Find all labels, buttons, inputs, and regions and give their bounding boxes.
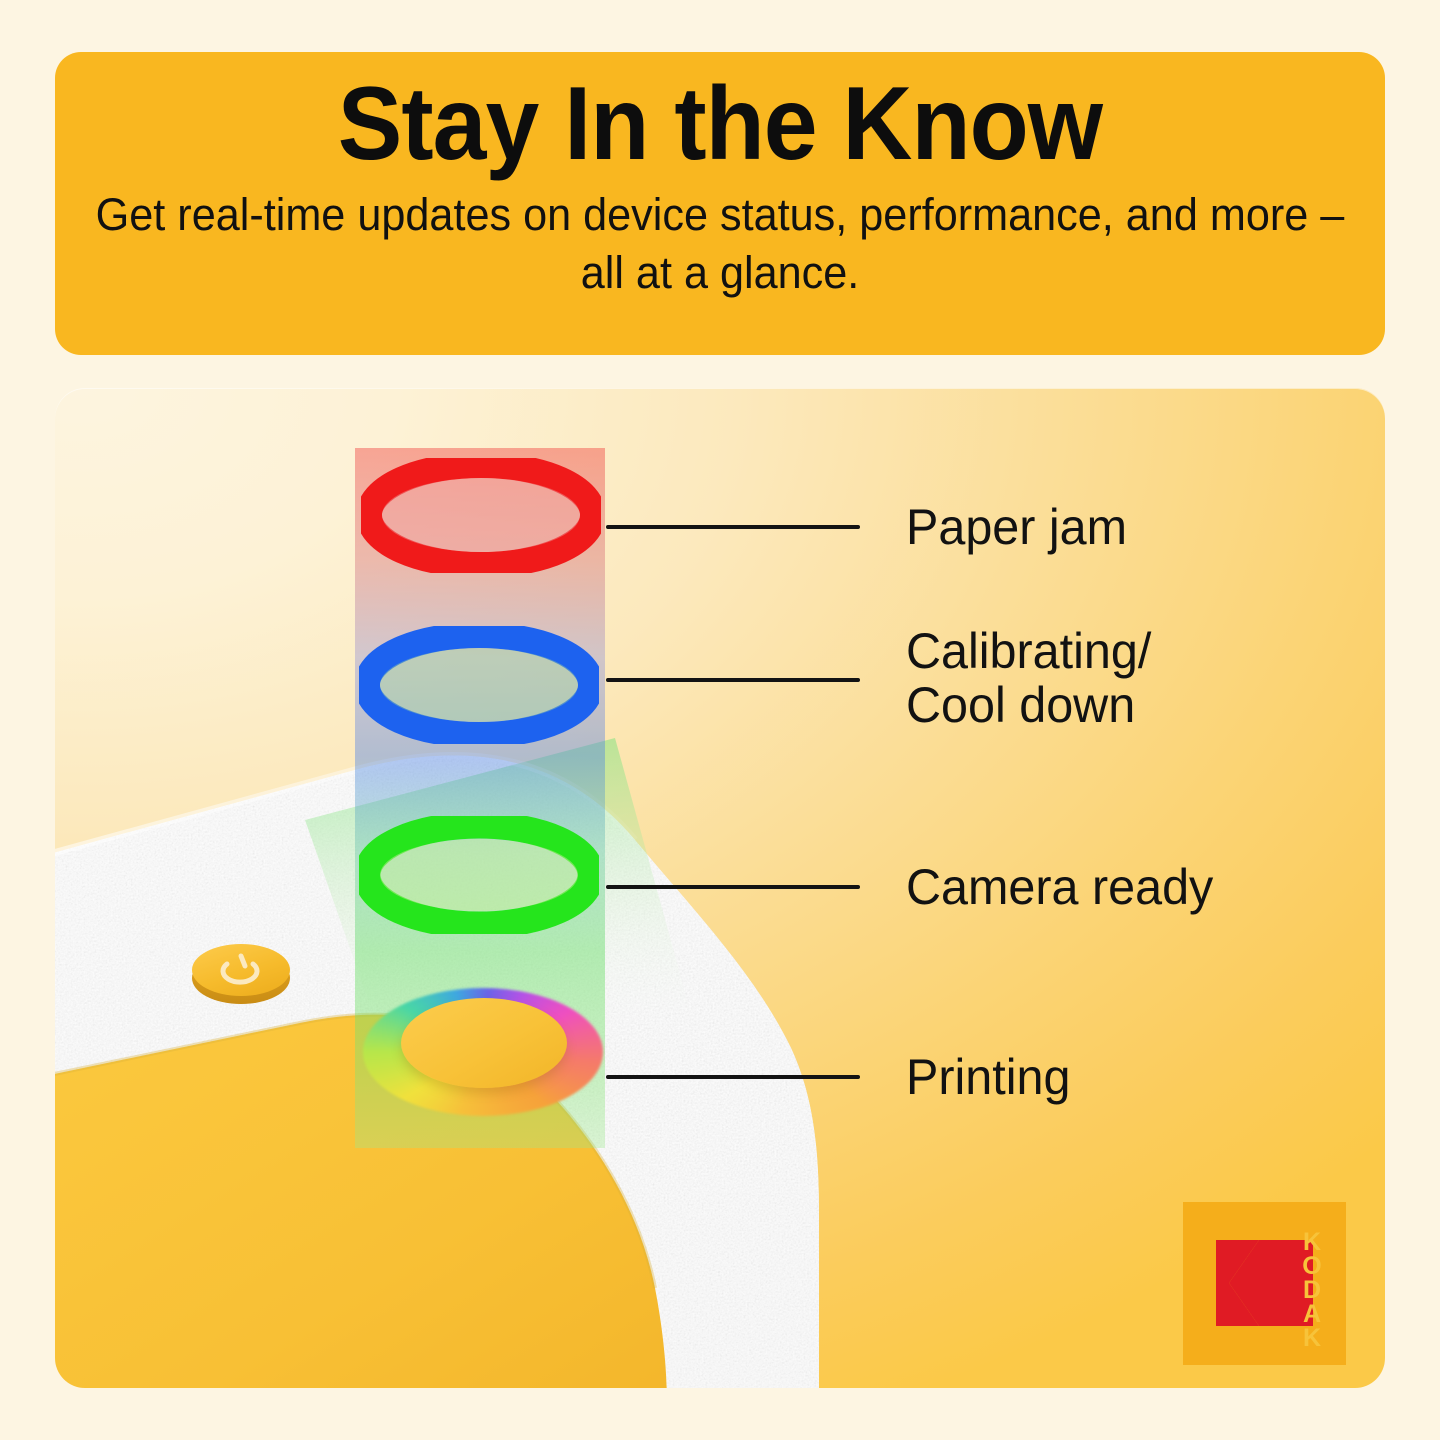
callout-label-camera-ready: Camera ready — [906, 860, 1213, 914]
leader-line-printing — [606, 1075, 860, 1079]
led-ring-blue — [359, 626, 599, 744]
leader-line-camera-ready — [606, 885, 860, 889]
print-button-face — [401, 998, 567, 1088]
print-button[interactable] — [363, 988, 603, 1116]
page-subtitle: Get real-time updates on device status, … — [82, 186, 1359, 301]
callout-paper-jam: Paper jam — [606, 500, 1134, 554]
kodak-letter-k1: K — [1303, 1230, 1321, 1254]
kodak-letter-a: A — [1303, 1302, 1321, 1326]
page-title: Stay In the Know — [338, 66, 1102, 182]
header-banner: Stay In the Know Get real-time updates o… — [55, 52, 1385, 355]
led-ring-green — [359, 816, 599, 934]
callout-printing: Printing — [606, 1050, 1076, 1104]
callout-label-printing: Printing — [906, 1050, 1070, 1104]
callout-calibrating-cool-down: Calibrating/ Cool down — [606, 628, 1159, 732]
kodak-letter-o: O — [1302, 1254, 1321, 1278]
callout-label-calibrating: Calibrating/ Cool down — [906, 624, 1151, 732]
callout-camera-ready: Camera ready — [606, 860, 1223, 914]
leader-line-calibrating — [606, 678, 860, 682]
kodak-letter-d: D — [1303, 1278, 1321, 1302]
led-ring-red — [361, 458, 601, 573]
product-illustration-panel: Paper jam Calibrating/ Cool down Camera … — [55, 388, 1385, 1388]
leader-line-paper-jam — [606, 525, 860, 529]
kodak-wordmark: K O D A K — [1297, 1230, 1327, 1350]
infographic-root: Stay In the Know Get real-time updates o… — [0, 0, 1440, 1440]
kodak-letter-k2: K — [1303, 1326, 1321, 1350]
callout-label-paper-jam: Paper jam — [906, 500, 1127, 554]
power-button[interactable] — [181, 928, 301, 1018]
kodak-logo: K O D A K — [1183, 1202, 1346, 1365]
